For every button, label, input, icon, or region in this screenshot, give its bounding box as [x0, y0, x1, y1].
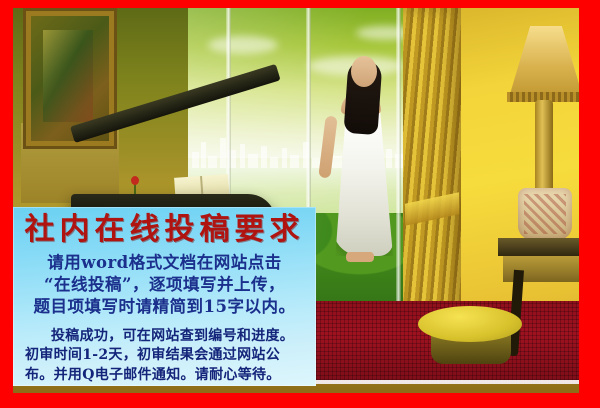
poster-root: 社内在线投稿要求 请用word格式文档在网站点击 “在线投稿”，逐项填写并上传，…: [0, 0, 600, 408]
woman-feet: [346, 252, 374, 262]
announcement-panel: 社内在线投稿要求 请用word格式文档在网站点击 “在线投稿”，逐项填写并上传，…: [13, 207, 316, 386]
panel-title: 社内在线投稿要求: [13, 207, 316, 250]
yellow-ottoman-stool: [418, 306, 522, 342]
cloud-icon: [208, 36, 278, 54]
panel-paragraph-1: 请用word格式文档在网站点击 “在线投稿”，逐项填写并上传， 题目项填写时请精…: [13, 252, 316, 318]
rose-icon: [131, 176, 139, 185]
panel-p1-line-2: “在线投稿”，逐项填写并上传，: [44, 275, 285, 294]
ceramic-urn: [518, 188, 572, 240]
console-table-top: [498, 238, 579, 256]
panel-paragraph-2: 投稿成功，可在网站查到编号和进度。 初审时间1-2天，初审结果会通过网站公 布。…: [13, 327, 316, 387]
yellow-curtain: [403, 8, 461, 326]
panel-p2-line-2: 初审时间1-2天，初审结果会通过网站公: [25, 347, 280, 363]
panel-p1-line-1: 请用word格式文档在网站点击: [47, 253, 281, 272]
woman-head: [351, 56, 377, 87]
panel-p2-line-1: 投稿成功，可在网站查到编号和进度。: [51, 328, 294, 344]
panel-p1-line-3: 题目项填写时请精简到15字以内。: [34, 297, 296, 316]
panel-p2-line-3: 布。并用Q电子邮件通知。请耐心等待。: [25, 367, 281, 383]
window-mullion: [396, 8, 401, 338]
lamp-stem: [535, 100, 553, 192]
